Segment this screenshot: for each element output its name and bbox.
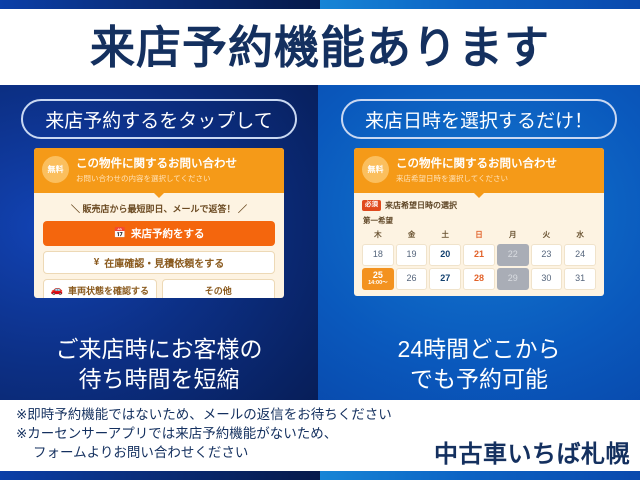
right-card-header-texts: この物件に関するお問い合わせ 来店希望日時を選択してください [396,155,557,184]
free-badge: 無料 [362,156,389,183]
calendar-day-cell[interactable]: 27 [429,268,461,290]
left-card-header-texts: この物件に関するお問い合わせ お問い合わせの内容を選択してください [76,155,237,184]
yen-icon: ¥ [94,258,100,268]
left-phone-mock: 無料 この物件に関するお問い合わせ お問い合わせの内容を選択してください ＼ 販… [34,148,284,298]
calendar-day-cell[interactable]: 19 [396,244,428,266]
left-pill-text: 来店予約するをタップして [45,106,272,133]
right-pill-text: 来店日時を選択するだけ！ [365,106,593,133]
calendar-day-number: 22 [508,250,518,259]
page-title: 来店予約機能あります [90,25,550,70]
bottom-accent-right [320,471,640,480]
footer: ※即時予約機能ではないため、メールの返信をお待ちください※カーセンサーアプリでは… [0,400,640,471]
other-label: その他 [205,284,232,297]
card-notch [473,192,485,198]
bottom-accent-bar [0,471,640,480]
calendar-day-cell: 22 [497,244,529,266]
calendar-day-number: 23 [541,250,551,259]
calendar-day-number: 20 [440,250,450,259]
calendar-day-number: 31 [575,274,585,283]
calendar-day-cell[interactable]: 28 [463,268,495,290]
calendar-day-cell[interactable]: 18 [362,244,394,266]
calendar-day-number: 27 [440,274,450,283]
required-badge: 必須 [362,200,381,210]
calendar-weekday: 火 [531,229,563,242]
check-condition-label: 車両状態を確認する [68,284,149,297]
calendar-day-slot: 14:00〜 [368,281,388,287]
left-tagline-line1: ご来店時にお客様の [0,335,318,364]
panels-container: 来店予約するをタップして 無料 この物件に関するお問い合わせ お問い合わせの内容… [0,85,640,400]
calendar-day-number: 28 [474,274,484,283]
left-card-header: 無料 この物件に関するお問い合わせ お問い合わせの内容を選択してください [34,148,284,193]
card-notch [153,192,165,198]
right-pill-label: 来店日時を選択するだけ！ [341,99,617,139]
panel-right: 来店日時を選択するだけ！ 無料 この物件に関するお問い合わせ 来店希望日時を選択… [318,85,640,400]
right-card-header: 無料 この物件に関するお問い合わせ 来店希望日時を選択してください [354,148,604,193]
calendar-day-number: 29 [508,274,518,283]
calendar-day-cell[interactable]: 2514:00〜 [362,268,394,290]
calendar-day-cell: 29 [497,268,529,290]
calendar-grid[interactable]: 木金土日月火水181920212223242514:00〜26272829303… [362,229,596,290]
check-condition-button[interactable]: 🚗 車両状態を確認する [43,279,157,298]
calendar-day-cell[interactable]: 23 [531,244,563,266]
right-tagline-line2: でも予約可能 [318,365,640,394]
right-phone-mock: 無料 この物件に関するお問い合わせ 来店希望日時を選択してください 必須 来店希… [354,148,604,296]
shop-logo: 中古車いちば札幌 [434,434,630,471]
car-icon: 🚗 [51,286,63,296]
left-tagline-line2: 待ち時間を短縮 [0,365,318,394]
required-row: 必須 来店希望日時の選択 [362,200,596,211]
calendar-weekday: 金 [396,229,428,242]
calendar-day-number: 21 [474,250,484,259]
promo-text: ＼ 販売店から最短即日、メールで返答！ ／ [43,202,275,215]
free-badge: 無料 [42,156,69,183]
footer-note: フォームよりお問い合わせください [16,444,434,462]
preference-label: 第一希望 [363,215,596,226]
left-card-subtitle: お問い合わせの内容を選択してください [76,173,237,184]
calendar-weekday: 木 [362,229,394,242]
footer-note: ※即時予約機能ではないため、メールの返信をお待ちください [16,406,434,424]
stock-quote-label: 在庫確認・見積依頼をする [104,255,224,270]
calendar-day-number: 19 [407,250,417,259]
calendar-day-cell[interactable]: 26 [396,268,428,290]
footer-notes: ※即時予約機能ではないため、メールの返信をお待ちください※カーセンサーアプリでは… [16,406,434,471]
left-tagline: ご来店時にお客様の 待ち時間を短縮 [0,335,318,394]
panel-left: 来店予約するをタップして 無料 この物件に関するお問い合わせ お問い合わせの内容… [0,85,318,400]
calendar-day-number: 30 [541,274,551,283]
right-card-title: この物件に関するお問い合わせ [396,155,557,171]
right-tagline-line1: 24時間どこから [318,335,640,364]
calendar-weekday: 水 [564,229,596,242]
left-card-title: この物件に関するお問い合わせ [76,155,237,171]
calendar-weekday: 月 [497,229,529,242]
calendar-day-cell[interactable]: 24 [564,244,596,266]
calendar-icon: 📅 [114,229,126,239]
calendar-day-number: 25 [373,271,383,280]
footer-note: ※カーセンサーアプリでは来店予約機能がないため、 [16,425,434,443]
bottom-accent-left [0,471,320,480]
top-accent-right [320,0,640,9]
reserve-visit-button[interactable]: 📅 来店予約をする [43,221,275,246]
calendar-day-cell[interactable]: 31 [564,268,596,290]
right-card-subtitle: 来店希望日時を選択してください [396,173,557,184]
promo-banner: 来店予約機能あります 来店予約するをタップして 無料 この物件に関するお問い合わ… [0,0,640,480]
calendar-day-cell[interactable]: 30 [531,268,563,290]
reserve-visit-label: 来店予約をする [131,226,205,241]
right-tagline: 24時間どこから でも予約可能 [318,335,640,394]
calendar-day-cell[interactable]: 20 [429,244,461,266]
calendar-day-cell[interactable]: 21 [463,244,495,266]
other-button[interactable]: その他 [162,279,276,298]
calendar-day-number: 26 [407,274,417,283]
left-card-body: ＼ 販売店から最短即日、メールで返答！ ／ 📅 来店予約をする ¥ 在庫確認・見… [34,193,284,298]
calendar-weekday: 土 [429,229,461,242]
top-accent-bar [0,0,640,9]
headline-band: 来店予約機能あります [0,9,640,85]
tertiary-button-row: 🚗 車両状態を確認する その他 [43,279,275,298]
left-pill-label: 来店予約するをタップして [21,99,297,139]
top-accent-left [0,0,320,9]
calendar-day-number: 18 [373,250,383,259]
calendar-weekday: 日 [463,229,495,242]
calendar-day-number: 24 [575,250,585,259]
calendar-body: 必須 来店希望日時の選択 第一希望 木金土日月火水181920212223242… [354,193,604,290]
stock-quote-button[interactable]: ¥ 在庫確認・見積依頼をする [43,251,275,274]
required-label: 来店希望日時の選択 [385,200,457,211]
